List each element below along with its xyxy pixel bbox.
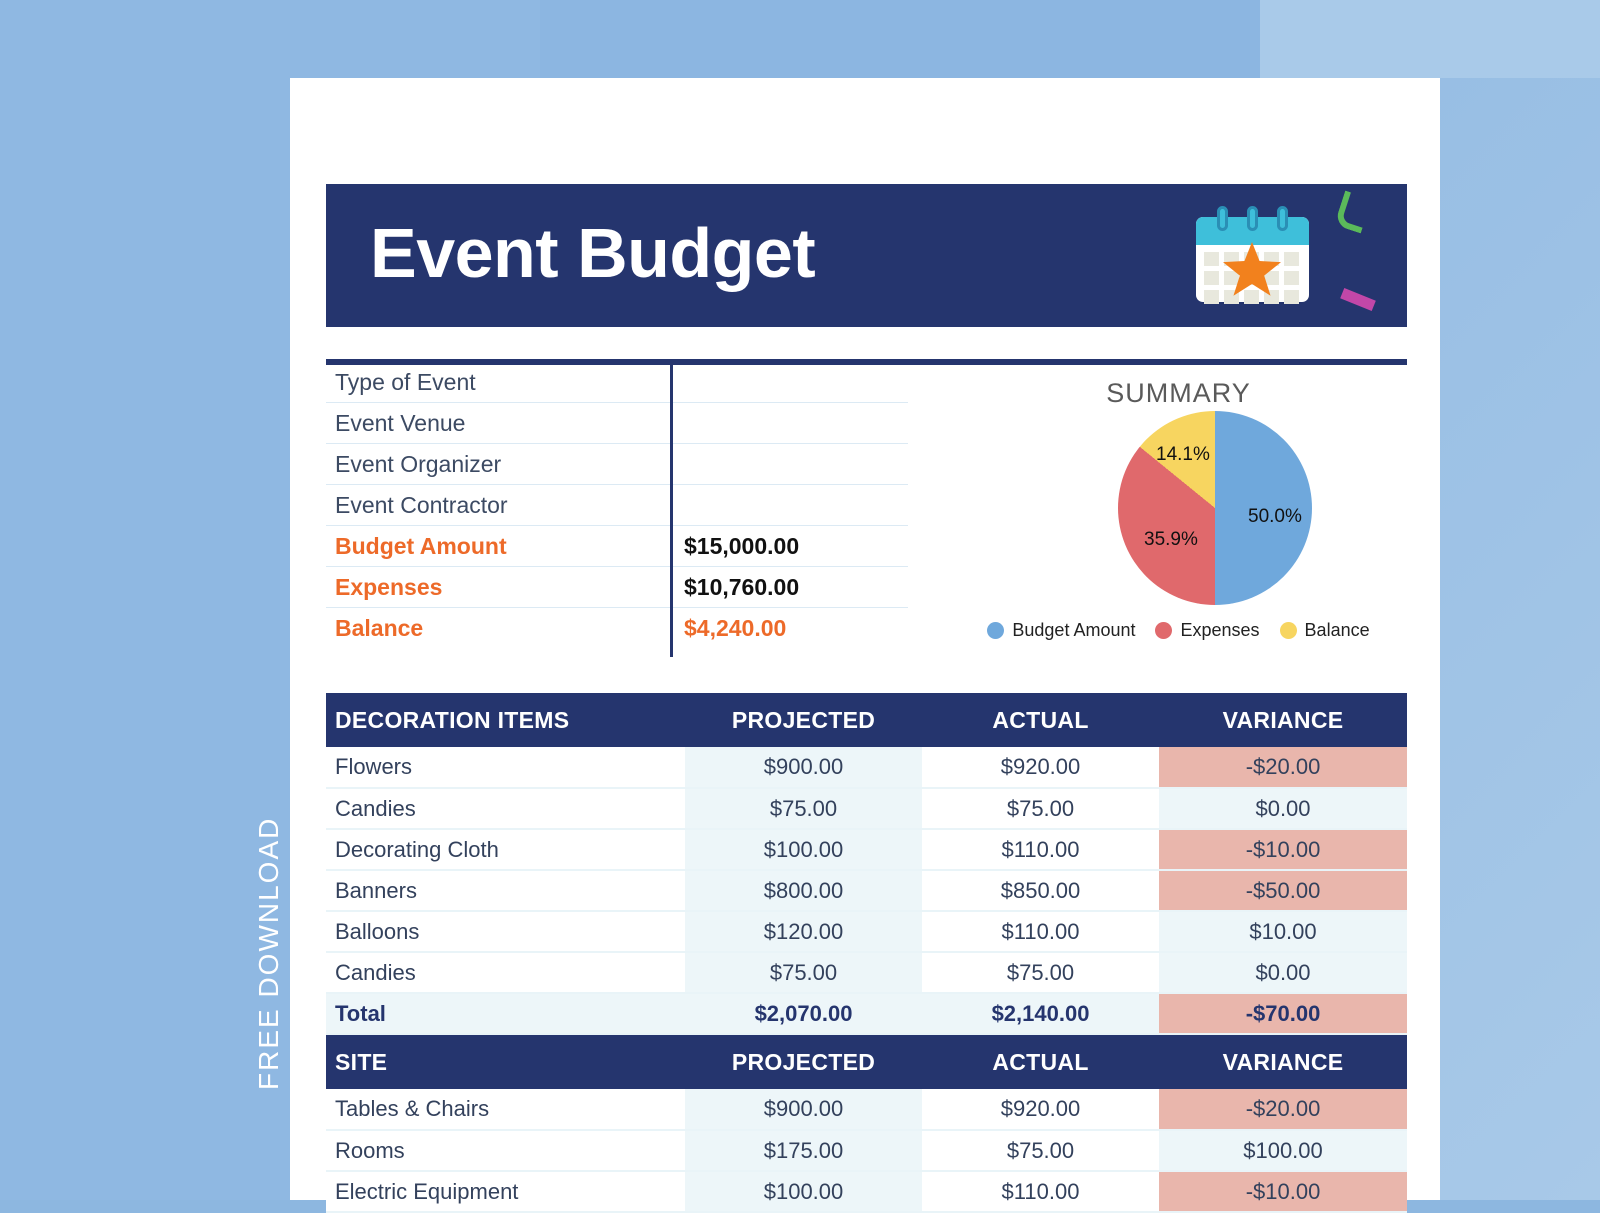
confetti-bar-magenta-icon	[1340, 288, 1376, 311]
table-total-row: Total$2,070.00$2,140.00-$70.00	[326, 993, 1407, 1034]
row-projected-cell[interactable]: $900.00	[685, 747, 922, 788]
row-item-name[interactable]: Decorating Cloth	[326, 829, 685, 870]
calendar-star-icon	[1196, 206, 1309, 302]
table-row: Banners$800.00$850.00-$50.00	[326, 870, 1407, 911]
row-item-name[interactable]: Electric Equipment	[326, 1171, 685, 1212]
row-item-name[interactable]: Total	[326, 993, 685, 1034]
table-row: Balloons$120.00$110.00$10.00	[326, 911, 1407, 952]
info-row-label: Balance	[326, 615, 670, 642]
info-row: Event Organizer	[326, 444, 908, 485]
column-header[interactable]: ACTUAL	[922, 693, 1159, 747]
table-row: Rooms$175.00$75.00$100.00	[326, 1130, 1407, 1171]
row-variance-cell[interactable]: $100.00	[1159, 1130, 1407, 1171]
row-projected-cell[interactable]: $100.00	[685, 1171, 922, 1212]
row-projected-cell[interactable]: $800.00	[685, 870, 922, 911]
info-row-value[interactable]: $15,000.00	[670, 533, 799, 560]
row-actual-cell[interactable]: $920.00	[922, 1089, 1159, 1130]
row-item-name[interactable]: Banners	[326, 870, 685, 911]
row-variance-cell[interactable]: -$20.00	[1159, 747, 1407, 788]
row-projected-cell[interactable]: $900.00	[685, 1089, 922, 1130]
row-variance-cell[interactable]: -$10.00	[1159, 829, 1407, 870]
row-actual-cell[interactable]: $920.00	[922, 747, 1159, 788]
chart-legend: Budget AmountExpensesBalance	[950, 620, 1407, 641]
row-actual-cell[interactable]: $2,140.00	[922, 993, 1159, 1034]
confetti-squiggle-green-icon	[1334, 191, 1372, 234]
column-header[interactable]: SITE	[326, 1035, 685, 1089]
row-item-name[interactable]: Flowers	[326, 747, 685, 788]
column-header[interactable]: ACTUAL	[922, 1035, 1159, 1089]
calendar-cell	[1204, 290, 1219, 304]
pie-slice-label: 14.1%	[1156, 444, 1210, 466]
row-item-name[interactable]: Balloons	[326, 911, 685, 952]
column-header[interactable]: VARIANCE	[1159, 1035, 1407, 1089]
info-table-divider	[670, 362, 673, 657]
info-row: Balance$4,240.00	[326, 608, 908, 649]
info-row: Event Contractor	[326, 485, 908, 526]
row-variance-cell[interactable]: -$50.00	[1159, 870, 1407, 911]
info-row: Expenses$10,760.00	[326, 567, 908, 608]
column-header[interactable]: VARIANCE	[1159, 693, 1407, 747]
row-variance-cell[interactable]: $0.00	[1159, 952, 1407, 993]
legend-item: Expenses	[1155, 620, 1259, 641]
info-row-label: Event Contractor	[326, 492, 670, 519]
table-row: Flowers$900.00$920.00-$20.00	[326, 747, 1407, 788]
table-row: Candies$75.00$75.00$0.00	[326, 952, 1407, 993]
info-row-value[interactable]: $4,240.00	[670, 615, 786, 642]
column-header[interactable]: PROJECTED	[685, 1035, 922, 1089]
title-banner: Event Budget	[326, 184, 1407, 327]
column-header[interactable]: DECORATION ITEMS	[326, 693, 685, 747]
row-actual-cell[interactable]: $110.00	[922, 1171, 1159, 1212]
page-title: Event Budget	[370, 210, 815, 296]
legend-swatch-icon	[1280, 622, 1297, 639]
info-row: Event Venue	[326, 403, 908, 444]
row-item-name[interactable]: Candies	[326, 952, 685, 993]
calendar-cell	[1204, 252, 1219, 266]
row-projected-cell[interactable]: $175.00	[685, 1130, 922, 1171]
budget-tables: DECORATION ITEMSPROJECTEDACTUALVARIANCEF…	[326, 693, 1407, 1213]
table-header-row: SITEPROJECTEDACTUALVARIANCE	[326, 1035, 1407, 1089]
calendar-cell	[1284, 252, 1299, 266]
row-actual-cell[interactable]: $110.00	[922, 829, 1159, 870]
calendar-cell	[1284, 290, 1299, 304]
legend-swatch-icon	[987, 622, 1004, 639]
table-row: Decorating Cloth$100.00$110.00-$10.00	[326, 829, 1407, 870]
row-actual-cell[interactable]: $75.00	[922, 788, 1159, 829]
summary-chart: SUMMARY 50.0% 35.9% 14.1% Budget AmountE…	[950, 362, 1407, 657]
info-row: Type of Event	[326, 362, 908, 403]
table-row: Tables & Chairs$900.00$920.00-$20.00	[326, 1089, 1407, 1130]
row-item-name[interactable]: Tables & Chairs	[326, 1089, 685, 1130]
legend-label: Balance	[1305, 620, 1370, 641]
pie-slice-label: 50.0%	[1248, 506, 1302, 528]
info-row-label: Event Organizer	[326, 451, 670, 478]
table-row: Electric Equipment$100.00$110.00-$10.00	[326, 1171, 1407, 1212]
info-row-label: Expenses	[326, 574, 670, 601]
row-projected-cell[interactable]: $120.00	[685, 911, 922, 952]
legend-swatch-icon	[1155, 622, 1172, 639]
document-sheet: Event Budget Type of EventEvent VenueEve…	[290, 78, 1440, 1200]
row-projected-cell[interactable]: $75.00	[685, 788, 922, 829]
calendar-cell	[1284, 271, 1299, 285]
event-info-table: Type of EventEvent VenueEvent OrganizerE…	[326, 362, 908, 649]
row-variance-cell[interactable]: $10.00	[1159, 911, 1407, 952]
info-row-label: Type of Event	[326, 369, 670, 396]
background-band-middle	[540, 0, 1260, 78]
budget-table: DECORATION ITEMSPROJECTEDACTUALVARIANCEF…	[326, 693, 1407, 1035]
row-variance-cell[interactable]: -$70.00	[1159, 993, 1407, 1034]
row-variance-cell[interactable]: -$20.00	[1159, 1089, 1407, 1130]
info-row-label: Event Venue	[326, 410, 670, 437]
background-column-left	[0, 78, 290, 1200]
info-row-label: Budget Amount	[326, 533, 670, 560]
column-header[interactable]: PROJECTED	[685, 693, 922, 747]
row-projected-cell[interactable]: $100.00	[685, 829, 922, 870]
row-actual-cell[interactable]: $75.00	[922, 1130, 1159, 1171]
row-item-name[interactable]: Candies	[326, 788, 685, 829]
table-row: Candies$75.00$75.00$0.00	[326, 788, 1407, 829]
pie-slice-label: 35.9%	[1144, 529, 1198, 551]
info-row-value[interactable]: $10,760.00	[670, 574, 799, 601]
legend-item: Balance	[1280, 620, 1370, 641]
row-variance-cell[interactable]: $0.00	[1159, 788, 1407, 829]
legend-label: Expenses	[1180, 620, 1259, 641]
budget-table: SITEPROJECTEDACTUALVARIANCETables & Chai…	[326, 1035, 1407, 1213]
legend-label: Budget Amount	[1012, 620, 1135, 641]
legend-item: Budget Amount	[987, 620, 1135, 641]
info-row: Budget Amount$15,000.00	[326, 526, 908, 567]
background-band-left	[0, 0, 540, 78]
row-item-name[interactable]: Rooms	[326, 1130, 685, 1171]
row-projected-cell[interactable]: $2,070.00	[685, 993, 922, 1034]
background-band-right	[1260, 0, 1600, 78]
calendar-cell	[1244, 290, 1259, 304]
row-variance-cell[interactable]: -$10.00	[1159, 1171, 1407, 1212]
calendar-cell	[1204, 271, 1219, 285]
row-actual-cell[interactable]: $110.00	[922, 911, 1159, 952]
table-header-row: DECORATION ITEMSPROJECTEDACTUALVARIANCE	[326, 693, 1407, 747]
chart-title: SUMMARY	[950, 378, 1407, 409]
row-projected-cell[interactable]: $75.00	[685, 952, 922, 993]
row-actual-cell[interactable]: $75.00	[922, 952, 1159, 993]
row-actual-cell[interactable]: $850.00	[922, 870, 1159, 911]
